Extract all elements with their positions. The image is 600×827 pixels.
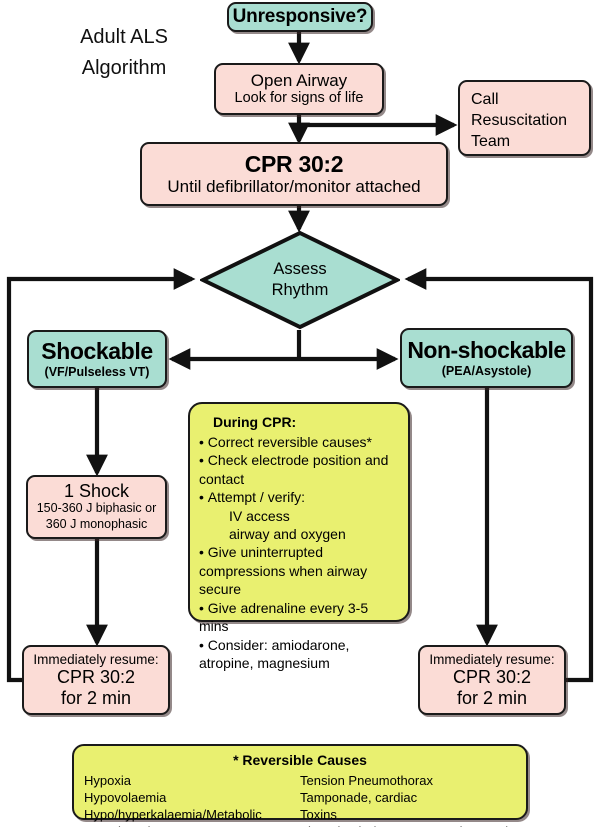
diagram-title-line2: Algorithm: [44, 53, 204, 84]
node-non-shockable[interactable]: Non-shockable (PEA/Asystole): [400, 328, 573, 388]
node-assess-rhythm-label: Assess Rhythm: [200, 230, 400, 330]
panel-reversible-causes: * Reversible Causes HypoxiaHypovolaemiaH…: [72, 744, 528, 820]
node-non-shockable-line2: (PEA/Asystole): [442, 364, 532, 378]
panel-during-cpr-list: Correct reversible causes*Check electrod…: [199, 433, 400, 673]
panel-during-cpr-title: During CPR:: [213, 415, 400, 431]
node-cpr-30-2[interactable]: CPR 30:2 Until defibrillator/monitor att…: [140, 142, 448, 206]
reversible-causes-column-right: Tension PneumothoraxTamponade, cardiacTo…: [300, 772, 516, 827]
node-resume-left-line1: Immediately resume:: [33, 652, 158, 667]
reversible-cause-item: Hypovolaemia: [84, 789, 300, 806]
during-cpr-item: IV access: [199, 507, 400, 525]
node-resume-right[interactable]: Immediately resume: CPR 30:2 for 2 min: [418, 645, 566, 715]
node-resume-right-line2: CPR 30:2: [453, 667, 531, 687]
node-one-shock[interactable]: 1 Shock 150-360 J biphasic or 360 J mono…: [26, 475, 167, 539]
reversible-cause-item: Hypothermia: [84, 823, 300, 827]
als-algorithm-diagram: Adult ALS Algorithm Unresponsive? Open A…: [0, 0, 600, 827]
node-assess-rhythm-line2: Rhythm: [272, 280, 329, 301]
node-assess-rhythm[interactable]: Assess Rhythm: [200, 230, 400, 330]
node-one-shock-line3: 360 J monophasic: [46, 517, 147, 533]
reversible-cause-item: Hypoxia: [84, 772, 300, 789]
node-shockable-line2: (VF/Pulseless VT): [45, 365, 150, 379]
node-call-team-line3: Team: [471, 131, 510, 152]
node-one-shock-line2: 150-360 J biphasic or: [37, 501, 157, 517]
during-cpr-item: Attempt / verify:: [199, 488, 400, 506]
node-non-shockable-line1: Non-shockable: [407, 338, 565, 364]
node-one-shock-line1: 1 Shock: [64, 481, 129, 501]
node-resume-left[interactable]: Immediately resume: CPR 30:2 for 2 min: [22, 645, 170, 715]
reversible-cause-item: Thrombosis (coronary or pulmonary): [300, 823, 516, 827]
node-unresponsive[interactable]: Unresponsive?: [227, 2, 373, 32]
diagram-title-line1: Adult ALS: [44, 22, 204, 53]
node-open-airway-line1: Open Airway: [251, 71, 347, 90]
node-resume-left-line2: CPR 30:2: [57, 667, 135, 687]
node-open-airway-line2: Look for signs of life: [235, 90, 364, 106]
node-resume-right-line3: for 2 min: [457, 688, 527, 708]
node-shockable-line1: Shockable: [41, 339, 152, 365]
reversible-cause-item: Tension Pneumothorax: [300, 772, 516, 789]
during-cpr-item: Give uninterrupted compressions when air…: [199, 543, 400, 598]
during-cpr-item: airway and oxygen: [199, 525, 400, 543]
node-call-team-line2: Resuscitation: [471, 110, 567, 131]
reversible-cause-item: Toxins: [300, 806, 516, 823]
node-shockable[interactable]: Shockable (VF/Pulseless VT): [27, 330, 167, 388]
node-resume-left-line3: for 2 min: [61, 688, 131, 708]
diagram-title: Adult ALS Algorithm: [44, 22, 204, 84]
node-unresponsive-label: Unresponsive?: [233, 6, 368, 27]
node-cpr-30-2-line2: Until defibrillator/monitor attached: [167, 177, 420, 196]
panel-during-cpr: During CPR: Correct reversible causes*Ch…: [188, 402, 410, 622]
reversible-cause-item: Tamponade, cardiac: [300, 789, 516, 806]
panel-reversible-causes-title: * Reversible Causes: [84, 753, 516, 769]
node-call-team-line1: Call: [471, 89, 499, 110]
node-assess-rhythm-line1: Assess: [273, 259, 326, 280]
during-cpr-item: Check electrode position and contact: [199, 451, 400, 488]
reversible-causes-column-left: HypoxiaHypovolaemiaHypo/hyperkalaemia/Me…: [84, 772, 300, 827]
panel-reversible-causes-columns: HypoxiaHypovolaemiaHypo/hyperkalaemia/Me…: [84, 772, 516, 827]
during-cpr-item: Correct reversible causes*: [199, 433, 400, 451]
during-cpr-item: Consider: amiodarone, atropine, magnesiu…: [199, 636, 400, 673]
node-call-resuscitation-team[interactable]: Call Resuscitation Team: [458, 80, 591, 156]
node-open-airway[interactable]: Open Airway Look for signs of life: [214, 63, 384, 115]
node-resume-right-line1: Immediately resume:: [429, 652, 554, 667]
reversible-cause-item: Hypo/hyperkalaemia/Metabolic: [84, 806, 300, 823]
node-cpr-30-2-line1: CPR 30:2: [245, 152, 344, 178]
during-cpr-item: Give adrenaline every 3-5 mins: [199, 599, 400, 636]
